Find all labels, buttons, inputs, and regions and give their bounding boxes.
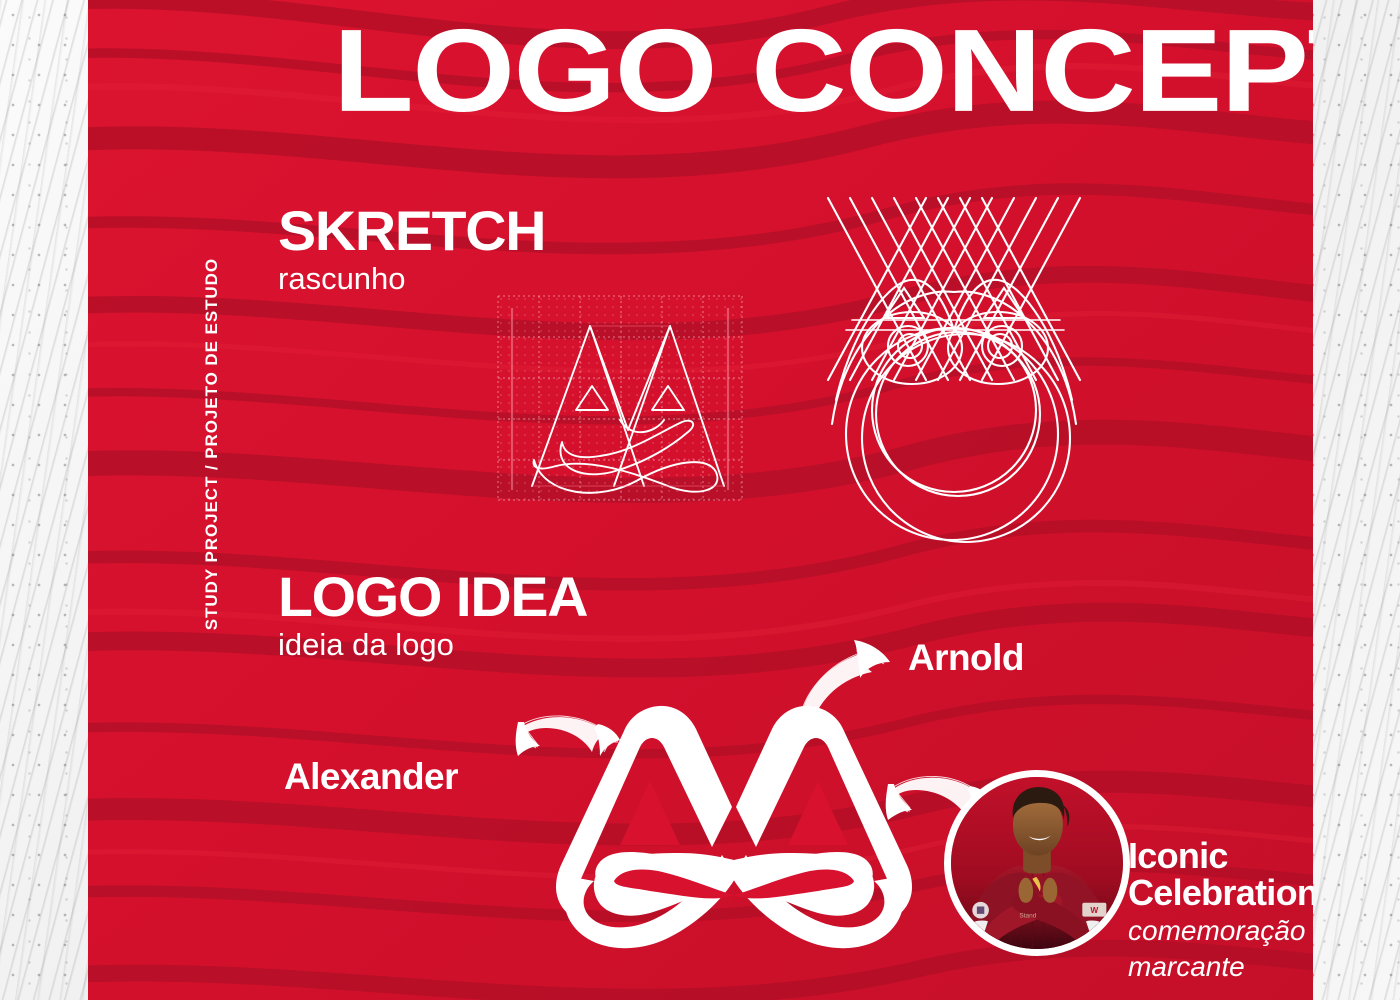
svg-text:Stand: Stand: [1019, 913, 1036, 920]
poster-panel: LOGO CONCEPT STUDY PROJECT / PROJETO DE …: [88, 0, 1313, 1000]
celebration-title-line1: Iconic: [1128, 838, 1313, 875]
celebration-subtitle-line1: comemoração: [1128, 916, 1313, 946]
annotation-label-alexander: Alexander: [284, 756, 458, 798]
aa-monogram-geometric-construction-icon: [806, 188, 1102, 558]
annotation-label-arnold: Arnold: [908, 637, 1024, 679]
section-title-en: SKRETCH: [278, 204, 545, 259]
photo-artwork: W Stand: [951, 777, 1123, 949]
celebration-title-line2: Celebration: [1128, 875, 1313, 912]
page-title: LOGO CONCEPT: [333, 11, 1313, 133]
section-title-pt: ideia da logo: [278, 627, 581, 664]
footballer-crossed-arms-celebration-photo: W Stand: [944, 770, 1130, 956]
section-heading-logo-idea: LOGO IDEA ideia da logo: [278, 570, 581, 663]
aa-monogram-logo-icon: [554, 695, 914, 1000]
section-title-en: LOGO IDEA: [278, 570, 587, 625]
section-heading-sketch: SKRETCH rascunho: [278, 204, 540, 297]
study-project-caption: STUDY PROJECT / PROJETO DE ESTUDO: [202, 258, 222, 630]
iconic-celebration-caption: Iconic Celebration comemoração marcante: [1128, 838, 1313, 982]
aa-monogram-grid-sketch-icon: [492, 290, 748, 506]
celebration-subtitle-line2: marcante: [1128, 952, 1313, 982]
svg-text:W: W: [1090, 905, 1098, 915]
